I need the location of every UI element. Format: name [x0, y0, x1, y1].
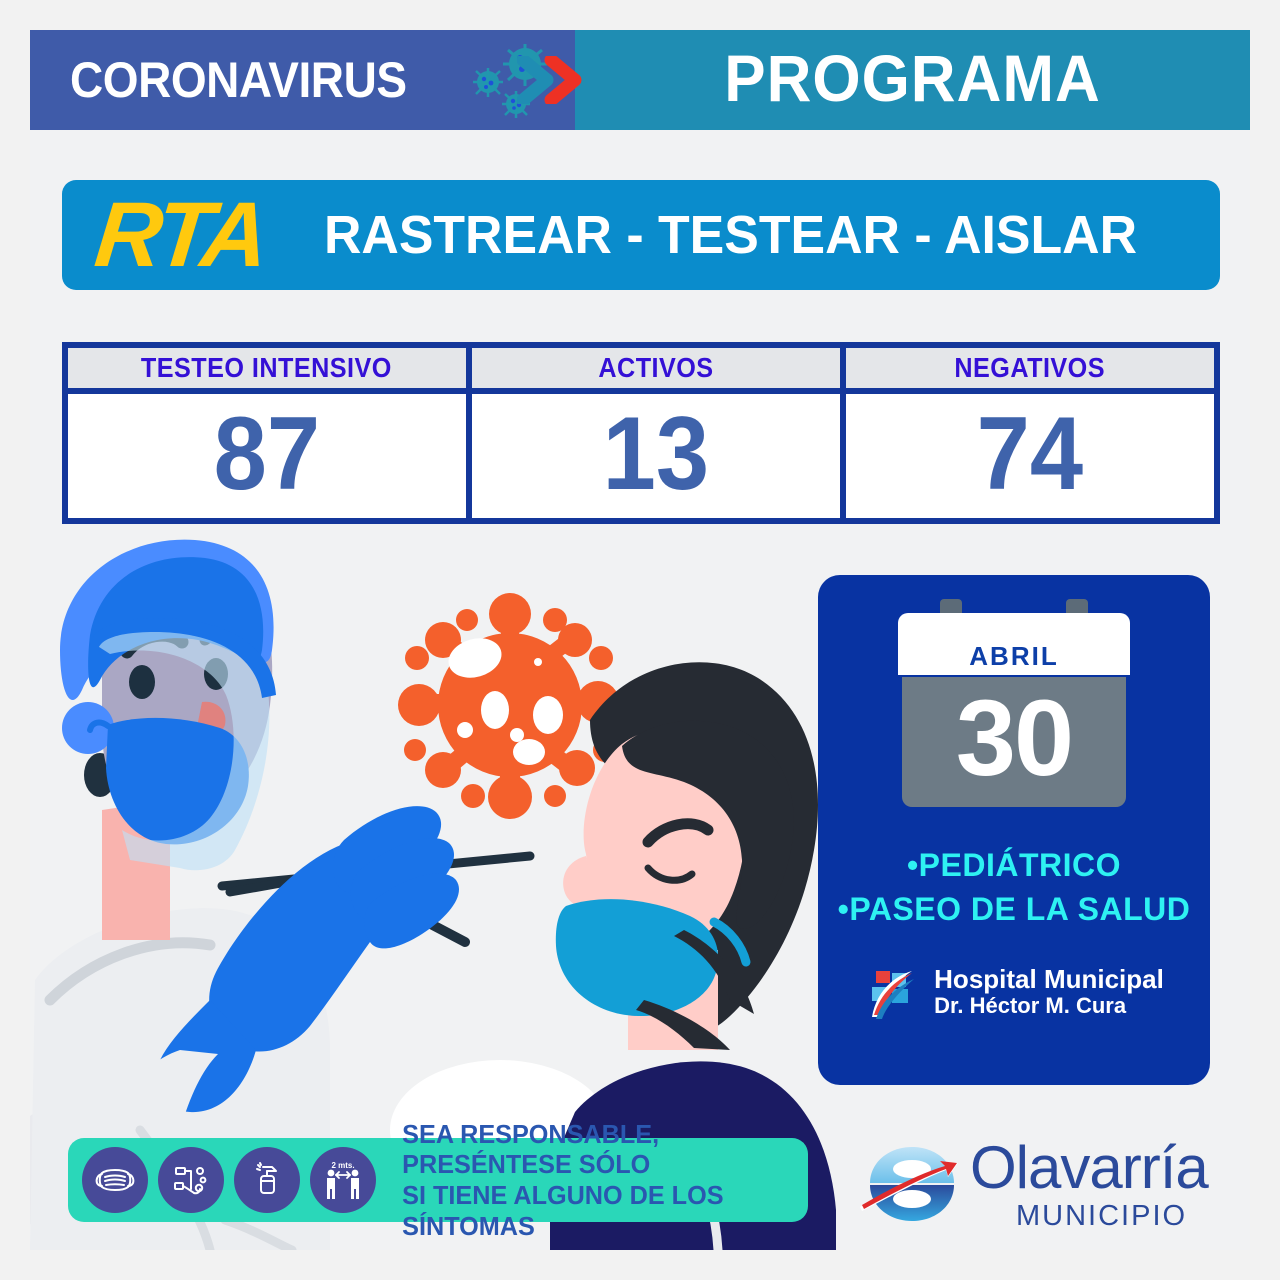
face-mask-icon-badge	[82, 1147, 148, 1213]
stat-value-cell: 74	[846, 394, 1214, 518]
spray-bottle-icon	[245, 1158, 289, 1202]
header-bar: CORONAVIRUS	[30, 30, 1250, 130]
olavarria-swoosh-icon	[860, 1141, 964, 1227]
hospital-name-line2: Dr. Héctor M. Cura	[934, 994, 1164, 1019]
stat-header-cell: TESTEO INTENSIVO	[68, 348, 466, 388]
calendar-day-number: 30	[956, 684, 1072, 792]
calendar-location-item-paseo: PASEO DE LA SALUD	[838, 889, 1191, 929]
prevention-banner: 2 mts. SEA RESPONSABLE, PRESÉNTESE SÓLO	[68, 1138, 808, 1222]
hospital-cross-icon	[864, 963, 922, 1021]
hospital-logo: Hospital Municipal Dr. Héctor M. Cura	[864, 963, 1164, 1021]
rta-banner: RTA RASTREAR - TESTEAR - AISLAR	[62, 180, 1220, 290]
stat-value-cell: 87	[68, 394, 466, 518]
rta-logo-text: RTA	[91, 189, 269, 281]
social-distance-icon: 2 mts.	[319, 1157, 367, 1203]
stat-label: ACTIVOS	[598, 354, 713, 382]
prevention-message-line1: SEA RESPONSABLE, PRESÉNTESE SÓLO	[402, 1119, 802, 1180]
header-right-panel: PROGRAMA	[575, 30, 1250, 130]
stat-value-cell: 13	[472, 394, 840, 518]
stat-header-cell: ACTIVOS	[472, 348, 840, 388]
stat-label: NEGATIVOS	[955, 354, 1106, 382]
stat-header-cell: NEGATIVOS	[846, 348, 1214, 388]
municipality-name-block: Olavarría MUNICIPIO	[970, 1138, 1208, 1231]
calendar-location-list: PEDIÁTRICO PASEO DE LA SALUD	[818, 845, 1210, 929]
municipality-name: Olavarría	[970, 1138, 1208, 1198]
stat-value: 13	[603, 402, 709, 506]
social-distance-label: 2 mts.	[331, 1161, 354, 1170]
stat-value: 74	[977, 402, 1083, 506]
social-distance-icon-badge: 2 mts.	[310, 1147, 376, 1213]
stat-label: TESTEO INTENSIVO	[141, 354, 392, 382]
stat-column-activos: ACTIVOS 13	[472, 348, 840, 518]
poster-canvas: CORONAVIRUS	[30, 30, 1250, 1250]
calendar-icon: ABRIL 30	[898, 599, 1130, 811]
rta-tagline: RASTREAR - TESTEAR - AISLAR	[324, 208, 1137, 262]
stat-column-negativos: NEGATIVOS 74	[846, 348, 1214, 518]
stats-table: TESTEO INTENSIVO 87 ACTIVOS 13 NEGATIVOS…	[62, 342, 1220, 524]
header-left-panel: CORONAVIRUS	[30, 30, 575, 130]
header-programa-title: PROGRAMA	[724, 47, 1101, 113]
spray-bottle-icon-badge	[234, 1147, 300, 1213]
hospital-name-line1: Hospital Municipal	[934, 965, 1164, 994]
calendar-month-header: ABRIL	[898, 613, 1130, 675]
calendar-day-body: 30	[902, 677, 1126, 807]
prevention-icon-row: 2 mts.	[82, 1147, 376, 1213]
stat-value: 87	[214, 402, 320, 506]
municipality-subtitle: MUNICIPIO	[1016, 1202, 1208, 1231]
stat-column-testeo: TESTEO INTENSIVO 87	[68, 348, 466, 518]
prevention-message: SEA RESPONSABLE, PRESÉNTESE SÓLO SI TIEN…	[402, 1119, 802, 1242]
poster-root: CORONAVIRUS	[0, 0, 1280, 1280]
calendar-location-item-pediatrico: PEDIÁTRICO	[907, 845, 1121, 885]
municipality-logo: Olavarría MUNICIPIO	[860, 1128, 1220, 1240]
hand-washing-icon	[169, 1158, 213, 1202]
calendar-card: ABRIL 30 PEDIÁTRICO PASEO DE LA SALUD Ho…	[818, 575, 1210, 1085]
orange-virus-illustration	[398, 593, 619, 819]
hospital-name-block: Hospital Municipal Dr. Héctor M. Cura	[934, 965, 1164, 1019]
calendar-month-label: ABRIL	[969, 643, 1058, 669]
double-chevron-icon	[517, 56, 587, 104]
header-coronavirus-title: CORONAVIRUS	[70, 55, 407, 105]
prevention-message-line2: SI TIENE ALGUNO DE LOS SÍNTOMAS	[402, 1180, 802, 1241]
face-mask-icon	[93, 1158, 137, 1202]
hand-washing-icon-badge	[158, 1147, 224, 1213]
